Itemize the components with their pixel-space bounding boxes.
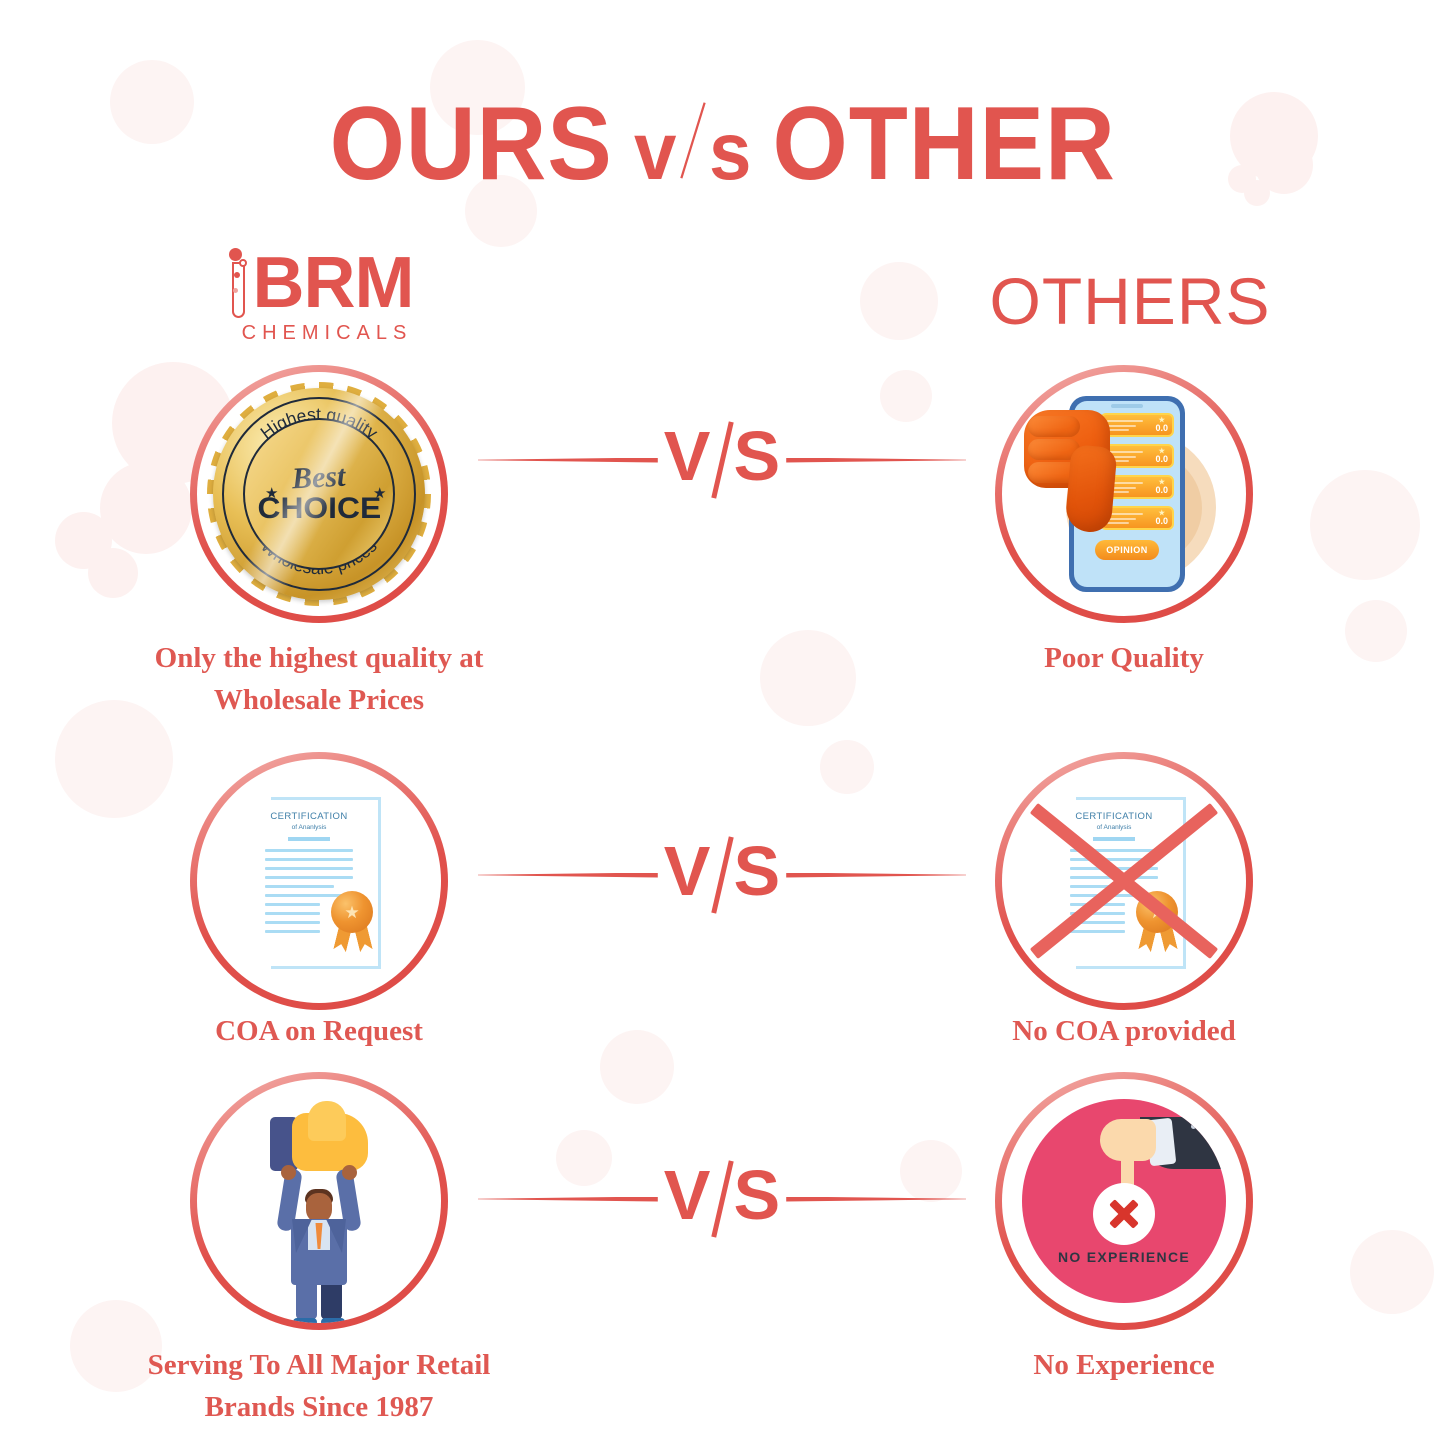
seal-star-icon: ★ xyxy=(344,904,359,921)
caption-line-1: Only the highest quality at xyxy=(139,637,499,679)
seal-star-icon: ★ xyxy=(1149,904,1164,921)
certificate-subtitle: of Ananlysis xyxy=(1070,824,1158,831)
caption-line-1: No COA provided xyxy=(944,1010,1304,1052)
caption-line-1: Poor Quality xyxy=(944,637,1304,679)
others-caption-coa: No COA provided xyxy=(944,1010,1304,1052)
rating-value: 0.0 xyxy=(1155,516,1168,526)
no-experience-label: NO EXPERIENCE xyxy=(1022,1249,1226,1265)
caption-line-2: Brands Since 1987 xyxy=(139,1386,499,1428)
businessman-figure xyxy=(265,1165,373,1317)
certificate-title: CERTIFICATION xyxy=(265,812,353,822)
best-choice-badge: Highest quality Wholesale prices ★ ★ Bes… xyxy=(213,388,425,600)
vs-divider-row1: V S xyxy=(472,405,972,515)
thumbs-down-icon xyxy=(1024,410,1132,532)
rating-value: 0.0 xyxy=(1155,423,1168,433)
vs-line-right xyxy=(786,458,966,463)
opinion-button[interactable]: OPINION xyxy=(1095,540,1159,560)
caption-line-2: Wholesale Prices xyxy=(139,679,499,721)
page-title: OURS v/s OTHER xyxy=(0,88,1445,196)
logo-wordmark: BRM xyxy=(253,249,414,317)
red-x-icon xyxy=(1093,1183,1155,1245)
certificate-title: CERTIFICATION xyxy=(1070,812,1158,822)
title-slash: / xyxy=(676,89,708,196)
vs-divider-row3: V S xyxy=(472,1144,972,1254)
infographic-canvas: OURS v/s OTHER BRM CHEMICALS OTHERS xyxy=(0,0,1445,1445)
title-mid-v: v xyxy=(634,106,676,197)
vs-letter-s: S xyxy=(734,421,781,491)
rating-value: 0.0 xyxy=(1155,454,1168,464)
vs-divider-row2: V S xyxy=(472,820,972,930)
award-seal-icon: ★ xyxy=(329,891,377,947)
test-tube-icon xyxy=(227,248,249,318)
vs-letter-v: V xyxy=(664,1160,711,1230)
certificate-scene-crossed: CERTIFICATION of Ananlysis xyxy=(1002,759,1246,1003)
phone-review-scene: ★ 0.0 ★ 0.0 xyxy=(1002,372,1246,616)
vs-letter-v: V xyxy=(664,836,711,906)
others-heading: OTHERS xyxy=(960,268,1300,334)
caption-line-1: COA on Request xyxy=(139,1010,499,1052)
others-caption-quality: Poor Quality xyxy=(944,637,1304,679)
vs-letter-s: S xyxy=(734,1160,781,1230)
certificate-scene: CERTIFICATION of Ananlysis xyxy=(197,759,441,1003)
others-illustration-poor-quality: ★ 0.0 ★ 0.0 xyxy=(995,365,1253,623)
others-illustration-no-experience: NO EXPERIENCE xyxy=(995,1072,1253,1330)
vs-slash-icon xyxy=(711,1160,733,1237)
rating-value: 0.0 xyxy=(1155,485,1168,495)
others-caption-experience: No Experience xyxy=(944,1344,1304,1386)
businessman-thumbs-up-scene xyxy=(197,1079,441,1323)
logo-subtitle: CHEMICALS xyxy=(169,322,485,345)
others-illustration-no-coa: CERTIFICATION of Ananlysis xyxy=(995,752,1253,1010)
no-experience-badge: NO EXPERIENCE xyxy=(1022,1099,1226,1303)
vs-letter-s: S xyxy=(734,836,781,906)
ours-illustration-coa: CERTIFICATION of Ananlysis xyxy=(190,752,448,1010)
vs-line-right xyxy=(786,873,966,878)
certificate-subtitle: of Ananlysis xyxy=(265,824,353,831)
ours-illustration-best-choice: Highest quality Wholesale prices ★ ★ Bes… xyxy=(190,365,448,623)
title-right: OTHER xyxy=(772,86,1115,202)
ours-illustration-experience xyxy=(190,1072,448,1330)
ours-caption-experience: Serving To All Major Retail Brands Since… xyxy=(139,1344,499,1428)
vs-line-left xyxy=(478,873,658,878)
caption-line-1: No Experience xyxy=(944,1344,1304,1386)
ours-caption-quality: Only the highest quality at Wholesale Pr… xyxy=(139,637,499,721)
vs-line-right xyxy=(786,1197,966,1202)
vs-slash-icon xyxy=(711,421,733,498)
vs-slash-icon xyxy=(711,836,733,913)
brand-logo: BRM CHEMICALS xyxy=(155,248,485,345)
vs-letter-v: V xyxy=(664,421,711,491)
caption-line-1: Serving To All Major Retail xyxy=(139,1344,499,1386)
ours-caption-coa: COA on Request xyxy=(139,1010,499,1052)
vs-line-left xyxy=(478,458,658,463)
vs-line-left xyxy=(478,1197,658,1202)
title-mid-s: s xyxy=(709,106,751,197)
others-column-header: OTHERS xyxy=(960,268,1300,334)
thumbs-up-icon xyxy=(270,1101,368,1173)
title-left: OURS xyxy=(329,86,612,202)
award-seal-icon: ★ xyxy=(1134,891,1182,947)
